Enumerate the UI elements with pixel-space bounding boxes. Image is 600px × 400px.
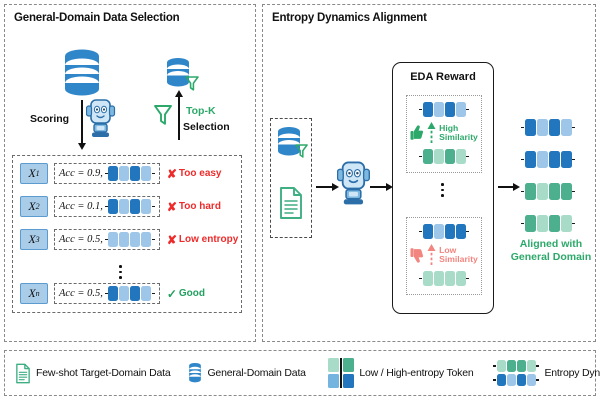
row-acc-text: Acc = 0.5, bbox=[59, 288, 103, 299]
row-acc-box: Acc = 0.9, bbox=[54, 163, 160, 184]
token-block bbox=[119, 232, 129, 247]
token-block bbox=[434, 149, 444, 164]
legend: Few-shot Target-Domain Data General-Doma… bbox=[4, 350, 596, 396]
token-connector bbox=[536, 379, 539, 381]
token-block bbox=[456, 224, 466, 239]
output-row bbox=[521, 183, 575, 200]
token-connector bbox=[572, 223, 575, 225]
funnel-icon-small bbox=[184, 75, 200, 93]
token-block bbox=[537, 183, 548, 200]
legend-label-entropy-token: Low / High-entropy Token bbox=[359, 367, 473, 379]
token-connector bbox=[152, 239, 155, 241]
up-arrow-icon-high-sim bbox=[427, 122, 436, 144]
row-token-sequence bbox=[105, 286, 155, 301]
thumbs-up-icon bbox=[410, 124, 424, 142]
low-sim-bottom-tokens bbox=[407, 271, 481, 286]
token-connector bbox=[419, 156, 422, 158]
up-arrow-icon-low-sim bbox=[427, 244, 436, 266]
token-block bbox=[141, 166, 151, 181]
funnel-icon-topk bbox=[153, 104, 173, 128]
token-block bbox=[561, 119, 572, 136]
scoring-label: Scoring bbox=[30, 113, 69, 125]
token-connector bbox=[521, 191, 524, 193]
topk-label: Top-K bbox=[186, 105, 216, 117]
token-block bbox=[537, 215, 548, 232]
token-block bbox=[130, 166, 140, 181]
rows-ellipsis bbox=[119, 262, 122, 282]
token-block bbox=[517, 374, 526, 386]
document-icon-input bbox=[278, 186, 304, 220]
similarity-block-low: Low Similarity bbox=[406, 217, 482, 295]
token-block bbox=[445, 224, 455, 239]
row-variable-label: X1 bbox=[20, 163, 48, 184]
topk-arrow bbox=[178, 96, 180, 140]
thumbs-down-icon bbox=[410, 246, 424, 264]
token-block bbox=[119, 199, 129, 214]
token-block bbox=[119, 166, 129, 181]
token-block bbox=[141, 199, 151, 214]
arrow-model-to-eda bbox=[370, 186, 387, 188]
row-verdict: ✘ Too hard bbox=[167, 201, 221, 213]
output-row bbox=[521, 151, 575, 168]
token-block bbox=[525, 215, 536, 232]
legend-item-general-domain: General-Domain Data bbox=[188, 362, 305, 384]
row-verdict-label: Low entropy bbox=[179, 234, 238, 245]
token-block bbox=[108, 232, 118, 247]
document-icon bbox=[15, 363, 31, 384]
swatch-low-green bbox=[328, 358, 339, 372]
token-connector bbox=[419, 231, 422, 233]
token-block bbox=[549, 151, 560, 168]
row-token-sequence bbox=[105, 199, 155, 214]
token-block bbox=[537, 151, 548, 168]
legend-label-few-shot: Few-shot Target-Domain Data bbox=[36, 367, 170, 379]
row-acc-box: Acc = 0.5, bbox=[54, 283, 160, 304]
high-sim-label-line2: Similarity bbox=[439, 133, 478, 143]
eda-reward-title: EDA Reward bbox=[393, 71, 493, 83]
token-block bbox=[119, 286, 129, 301]
low-sim-label-line2: Similarity bbox=[439, 255, 478, 265]
database-icon-source bbox=[62, 48, 102, 96]
token-connector bbox=[572, 191, 575, 193]
token-block bbox=[561, 151, 572, 168]
token-block bbox=[456, 102, 466, 117]
token-block bbox=[423, 224, 433, 239]
token-connector bbox=[419, 278, 422, 280]
legend-label-general-domain: General-Domain Data bbox=[207, 367, 305, 379]
swatch-high-green bbox=[343, 358, 354, 372]
token-block bbox=[130, 232, 140, 247]
token-block bbox=[561, 215, 572, 232]
token-connector bbox=[466, 109, 469, 111]
token-swatch-icon bbox=[328, 358, 355, 388]
token-block bbox=[423, 102, 433, 117]
row-variable-label: X2 bbox=[20, 196, 48, 217]
token-block bbox=[130, 199, 140, 214]
check-icon: ✓ bbox=[167, 288, 177, 300]
row-variable-label: X3 bbox=[20, 229, 48, 250]
row-verdict: ✓ Good bbox=[167, 288, 205, 300]
high-sim-bottom-tokens bbox=[407, 149, 481, 164]
row-acc-text: Acc = 0.9, bbox=[59, 168, 103, 179]
dynamic-green-row bbox=[493, 360, 539, 372]
row-variable-label: Xn bbox=[20, 283, 48, 304]
aligned-line1: Aligned with bbox=[505, 238, 597, 251]
legend-item-few-shot: Few-shot Target-Domain Data bbox=[15, 363, 170, 384]
token-block bbox=[141, 232, 151, 247]
output-row bbox=[521, 119, 575, 136]
panel-right-title: Entropy Dynamics Alignment bbox=[272, 12, 427, 24]
token-block bbox=[549, 183, 560, 200]
similarity-block-high: High Similarity bbox=[406, 95, 482, 173]
token-block bbox=[527, 360, 536, 372]
token-block bbox=[456, 271, 466, 286]
token-block bbox=[445, 102, 455, 117]
token-block bbox=[537, 119, 548, 136]
row-verdict-label: Too hard bbox=[179, 201, 221, 212]
token-block bbox=[434, 224, 444, 239]
aligned-caption: Aligned with General Domain bbox=[505, 238, 597, 264]
token-block bbox=[445, 271, 455, 286]
row-token-sequence bbox=[105, 166, 155, 181]
database-icon bbox=[188, 362, 202, 384]
entropy-dynamic-icon bbox=[493, 360, 539, 386]
table-row[interactable]: X3 Acc = 0.5, ✘ Low entropy bbox=[20, 229, 238, 250]
token-block bbox=[423, 271, 433, 286]
token-block bbox=[423, 149, 433, 164]
token-block bbox=[527, 374, 536, 386]
token-connector bbox=[521, 159, 524, 161]
high-sim-top-tokens bbox=[407, 102, 481, 117]
swatch-high-blue bbox=[343, 374, 354, 388]
cross-icon: ✘ bbox=[167, 201, 177, 213]
row-token-sequence bbox=[105, 232, 155, 247]
token-block bbox=[456, 149, 466, 164]
token-block bbox=[525, 151, 536, 168]
robot-icon-scorer bbox=[86, 97, 116, 141]
scoring-arrow bbox=[81, 100, 83, 144]
selection-label: Selection bbox=[183, 121, 230, 133]
token-block bbox=[497, 374, 506, 386]
token-connector bbox=[152, 206, 155, 208]
arrow-input-to-model bbox=[316, 186, 333, 188]
aligned-line2: General Domain bbox=[505, 251, 597, 264]
legend-label-entropy-dynamic: Entropy Dynamic bbox=[544, 367, 600, 379]
legend-item-entropy-dynamic: Entropy Dynamic bbox=[493, 360, 600, 386]
token-block bbox=[525, 119, 536, 136]
panel-left-title: General-Domain Data Selection bbox=[14, 12, 179, 24]
arrow-eda-to-output bbox=[498, 186, 514, 188]
token-block bbox=[445, 149, 455, 164]
table-row[interactable]: Xn Acc = 0.5, ✓ Good bbox=[20, 283, 205, 304]
token-connector bbox=[466, 156, 469, 158]
token-block bbox=[549, 119, 560, 136]
token-block bbox=[434, 271, 444, 286]
legend-item-entropy-token: Low / High-entropy Token bbox=[328, 358, 474, 388]
token-block bbox=[434, 102, 444, 117]
output-row bbox=[521, 215, 575, 232]
token-block bbox=[497, 360, 506, 372]
low-sim-top-tokens bbox=[407, 224, 481, 239]
row-acc-text: Acc = 0.1, bbox=[59, 201, 103, 212]
token-connector bbox=[536, 365, 539, 367]
token-block bbox=[507, 374, 516, 386]
swatch-low-blue bbox=[328, 374, 339, 388]
token-connector bbox=[152, 173, 155, 175]
row-acc-box: Acc = 0.1, bbox=[54, 196, 160, 217]
row-verdict: ✘ Too easy bbox=[167, 168, 222, 180]
row-verdict-label: Good bbox=[179, 288, 205, 299]
token-block bbox=[108, 199, 118, 214]
token-connector bbox=[521, 127, 524, 129]
token-block bbox=[141, 286, 151, 301]
token-connector bbox=[152, 293, 155, 295]
token-block bbox=[525, 183, 536, 200]
token-connector bbox=[572, 127, 575, 129]
cross-icon: ✘ bbox=[167, 168, 177, 180]
row-verdict-label: Too easy bbox=[179, 168, 222, 179]
eda-ellipsis bbox=[441, 180, 444, 200]
eda-reward-box: EDA Reward Hig bbox=[392, 62, 494, 314]
row-verdict: ✘ Low entropy bbox=[167, 234, 239, 246]
token-block bbox=[108, 286, 118, 301]
token-block bbox=[108, 166, 118, 181]
cross-icon: ✘ bbox=[167, 234, 177, 246]
token-block bbox=[549, 215, 560, 232]
diagram-root: General-Domain Data Selection Scoring bbox=[0, 0, 600, 400]
token-block bbox=[507, 360, 516, 372]
token-connector bbox=[419, 109, 422, 111]
funnel-icon-input bbox=[294, 143, 309, 160]
token-connector bbox=[466, 231, 469, 233]
token-connector bbox=[466, 278, 469, 280]
table-row[interactable]: X2 Acc = 0.1, ✘ Too hard bbox=[20, 196, 221, 217]
robot-icon-model bbox=[337, 158, 371, 210]
token-block bbox=[130, 286, 140, 301]
row-acc-text: Acc = 0.5, bbox=[59, 234, 103, 245]
token-block bbox=[517, 360, 526, 372]
table-row[interactable]: X1 Acc = 0.9, ✘ Too easy bbox=[20, 163, 222, 184]
data-rows-container: X1 Acc = 0.9, ✘ Too easy bbox=[12, 155, 242, 313]
token-connector bbox=[521, 223, 524, 225]
token-connector bbox=[572, 159, 575, 161]
token-block bbox=[561, 183, 572, 200]
row-acc-box: Acc = 0.5, bbox=[54, 229, 160, 250]
dynamic-blue-row bbox=[493, 374, 539, 386]
